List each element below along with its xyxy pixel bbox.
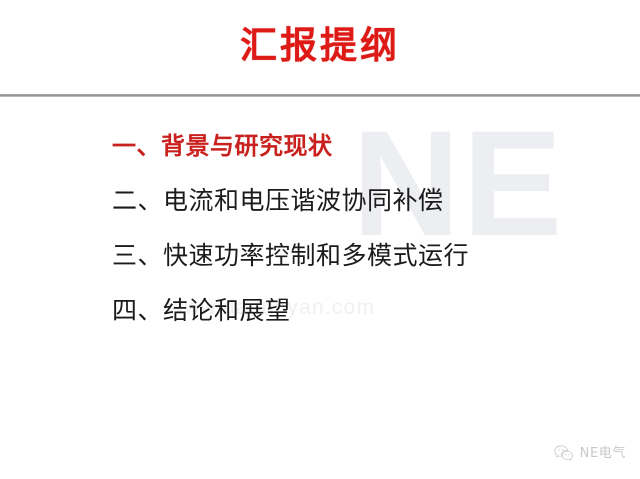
- slide-title-area: 汇报提纲: [0, 24, 640, 68]
- page-title: 汇报提纲: [240, 24, 400, 68]
- wechat-icon: [554, 445, 574, 462]
- footer-account-label: NE电气: [580, 446, 626, 462]
- presentation-slide: NE www.dadunyan.com 汇报提纲 一、背景与研究现状 二、电流和…: [0, 0, 640, 479]
- outline-item-1[interactable]: 一、背景与研究现状: [112, 131, 469, 161]
- footer-account-badge: NE电气: [554, 445, 626, 462]
- outline-item-2[interactable]: 二、电流和电压谐波协同补偿: [112, 186, 469, 216]
- outline-list: 一、背景与研究现状 二、电流和电压谐波协同补偿 三、快速功率控制和多模式运行 四…: [112, 131, 469, 351]
- outline-item-3[interactable]: 三、快速功率控制和多模式运行: [112, 241, 469, 271]
- outline-item-4[interactable]: 四、结论和展望: [112, 296, 469, 326]
- title-divider: [0, 94, 640, 97]
